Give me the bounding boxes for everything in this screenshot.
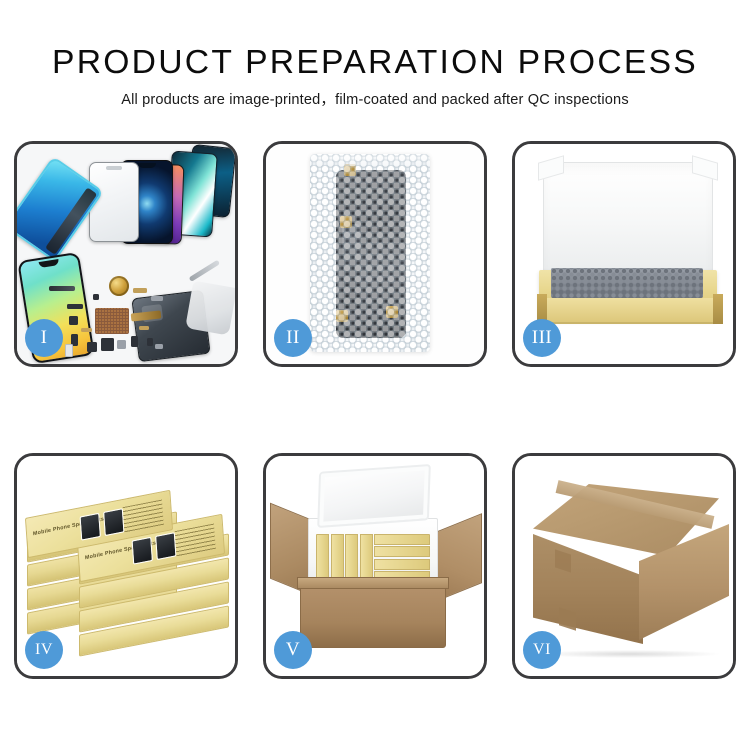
part-speaker-coil — [109, 276, 129, 296]
part-white-block — [65, 344, 73, 357]
grey-foam-padding — [551, 268, 703, 298]
header: PRODUCT PREPARATION PROCESS All products… — [0, 0, 750, 109]
part-gold-tab — [336, 310, 348, 322]
part-connector-mesh — [95, 308, 129, 334]
part-chip — [101, 338, 114, 351]
part-chip — [147, 338, 153, 346]
foam-box-lid — [317, 464, 431, 528]
inner-box-right-tab — [713, 294, 723, 324]
part-flex-cable — [131, 310, 162, 321]
spare-parts-cluster — [65, 282, 195, 366]
part-chip — [131, 336, 138, 347]
step-panel-4: Mobile Phone Spare Parts Mobile Phone Sp… — [14, 453, 238, 679]
part-chip — [93, 294, 99, 300]
yellow-box — [345, 534, 358, 582]
step-panel-3: III — [512, 141, 736, 367]
part-chip — [87, 342, 97, 352]
step-badge-1: I — [25, 319, 63, 357]
page-title: PRODUCT PREPARATION PROCESS — [0, 42, 750, 82]
step-badge-6: VI — [523, 631, 561, 669]
step-6-image: VI — [515, 456, 733, 676]
step-badge-2: II — [274, 319, 312, 357]
step-panel-1: I — [14, 141, 238, 367]
sealed-carton-left-face — [533, 534, 643, 644]
step-1-image: I — [17, 144, 235, 364]
part-bar — [49, 286, 75, 291]
yellow-box — [360, 534, 373, 582]
yellow-box — [331, 534, 344, 582]
bag-seal — [310, 154, 430, 166]
step-panel-2: II — [263, 141, 487, 367]
label-window-left — [80, 513, 101, 541]
part-gold-strip — [81, 328, 92, 332]
part-gold-tab — [386, 306, 398, 318]
label-window-left — [132, 537, 153, 565]
step-5-image: V — [266, 456, 484, 676]
yellow-box — [374, 534, 431, 545]
part-metal-bracket — [117, 340, 126, 349]
label-window-right — [103, 508, 124, 536]
label-spec-lines — [175, 524, 216, 558]
part-metal-bracket — [155, 344, 163, 349]
step-4-image: Mobile Phone Spare Parts Mobile Phone Sp… — [17, 456, 235, 676]
label-spec-lines — [123, 500, 164, 534]
yellow-box — [374, 546, 431, 557]
inner-box-front-wall — [539, 298, 717, 324]
step-2-image: II — [266, 144, 484, 364]
yellow-boxes-vertical-group — [316, 534, 373, 582]
step-panel-6: VI — [512, 453, 736, 679]
part-chip — [69, 316, 78, 325]
bubble-wrap-bag — [310, 154, 430, 352]
yellow-box — [316, 534, 329, 582]
part-gold-strip — [133, 288, 147, 293]
yellow-boxes-horizontal-group — [374, 534, 431, 582]
step-3-image: III — [515, 144, 733, 364]
label-window-right — [155, 532, 176, 560]
part-chip — [67, 304, 83, 309]
step-panel-5: V — [263, 453, 487, 679]
carton-body — [300, 584, 446, 648]
part-metal-bracket — [151, 296, 163, 301]
part-gold-tab — [340, 216, 352, 228]
step-badge-5: V — [274, 631, 312, 669]
yellow-boxes-fill — [316, 534, 430, 582]
part-gold-strip — [139, 326, 149, 330]
step-badge-3: III — [523, 319, 561, 357]
page-subtitle: All products are image-printed，film-coat… — [0, 91, 750, 109]
inner-box-lid — [543, 162, 713, 274]
product-preparation-process-page: PRODUCT PREPARATION PROCESS All products… — [0, 0, 750, 750]
yellow-box — [374, 559, 431, 570]
carton-shadow — [539, 650, 719, 658]
process-steps-grid: I II — [14, 141, 736, 679]
step-badge-4: IV — [25, 631, 63, 669]
